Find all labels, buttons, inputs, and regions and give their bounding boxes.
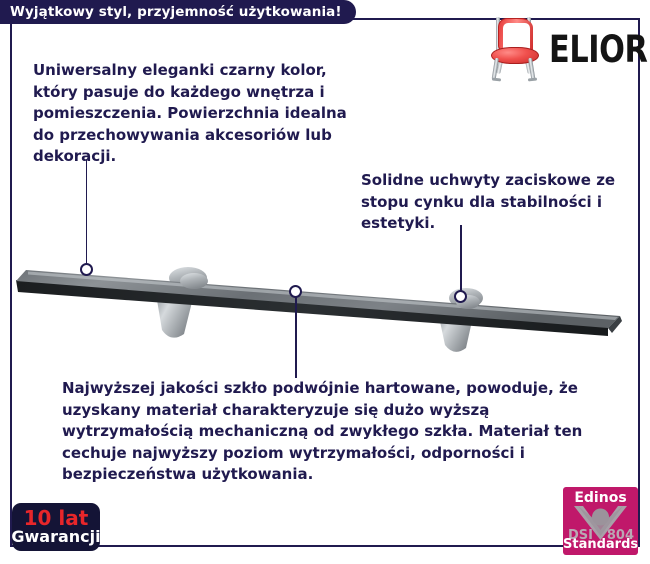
callout-marker-color-finish (80, 263, 93, 276)
callout-line-color-finish (86, 160, 88, 270)
callout-marker-brackets (454, 290, 467, 303)
chair-foot-left (492, 78, 501, 82)
shelf-glass-edge (16, 280, 608, 336)
chair-foot-right (528, 78, 537, 82)
edinos-standards-label: Standards (563, 537, 638, 552)
callout-marker-tempered-glass (289, 285, 302, 298)
warranty-label: Gwarancji (11, 528, 100, 546)
brand-logo: ELIOR (487, 16, 633, 82)
callout-line-brackets (460, 225, 462, 299)
shelf-clamp-cap-left (180, 273, 208, 289)
product-image-shelf (8, 248, 636, 358)
shelf-illustration (8, 248, 636, 358)
warranty-years: 10 lat (24, 508, 89, 528)
callout-text-brackets: Solidne uchwyty zaciskowe ze stopu cynku… (361, 170, 633, 235)
edinos-standards-badge: Edinos DSI 804 Standards (563, 487, 638, 555)
headline-ribbon: Wyjątkowy styl, przyjemność użytkowania! (0, 0, 356, 24)
headline-text: Wyjątkowy styl, przyjemność użytkowania! (10, 4, 342, 20)
chair-leg-front-right (528, 58, 535, 80)
callout-text-tempered-glass: Najwyższej jakości szkło podwójnie harto… (62, 378, 597, 486)
callout-text-color-finish: Uniwersalny eleganki czarny kolor, który… (33, 60, 353, 168)
callout-line-tempered-glass (295, 292, 297, 378)
warranty-badge: 10 lat Gwarancji (12, 503, 100, 551)
infographic-root: Wyjątkowy styl, przyjemność użytkowania!… (0, 0, 650, 564)
red-chair-icon (487, 16, 543, 82)
brand-wordmark: ELIOR (549, 31, 647, 68)
